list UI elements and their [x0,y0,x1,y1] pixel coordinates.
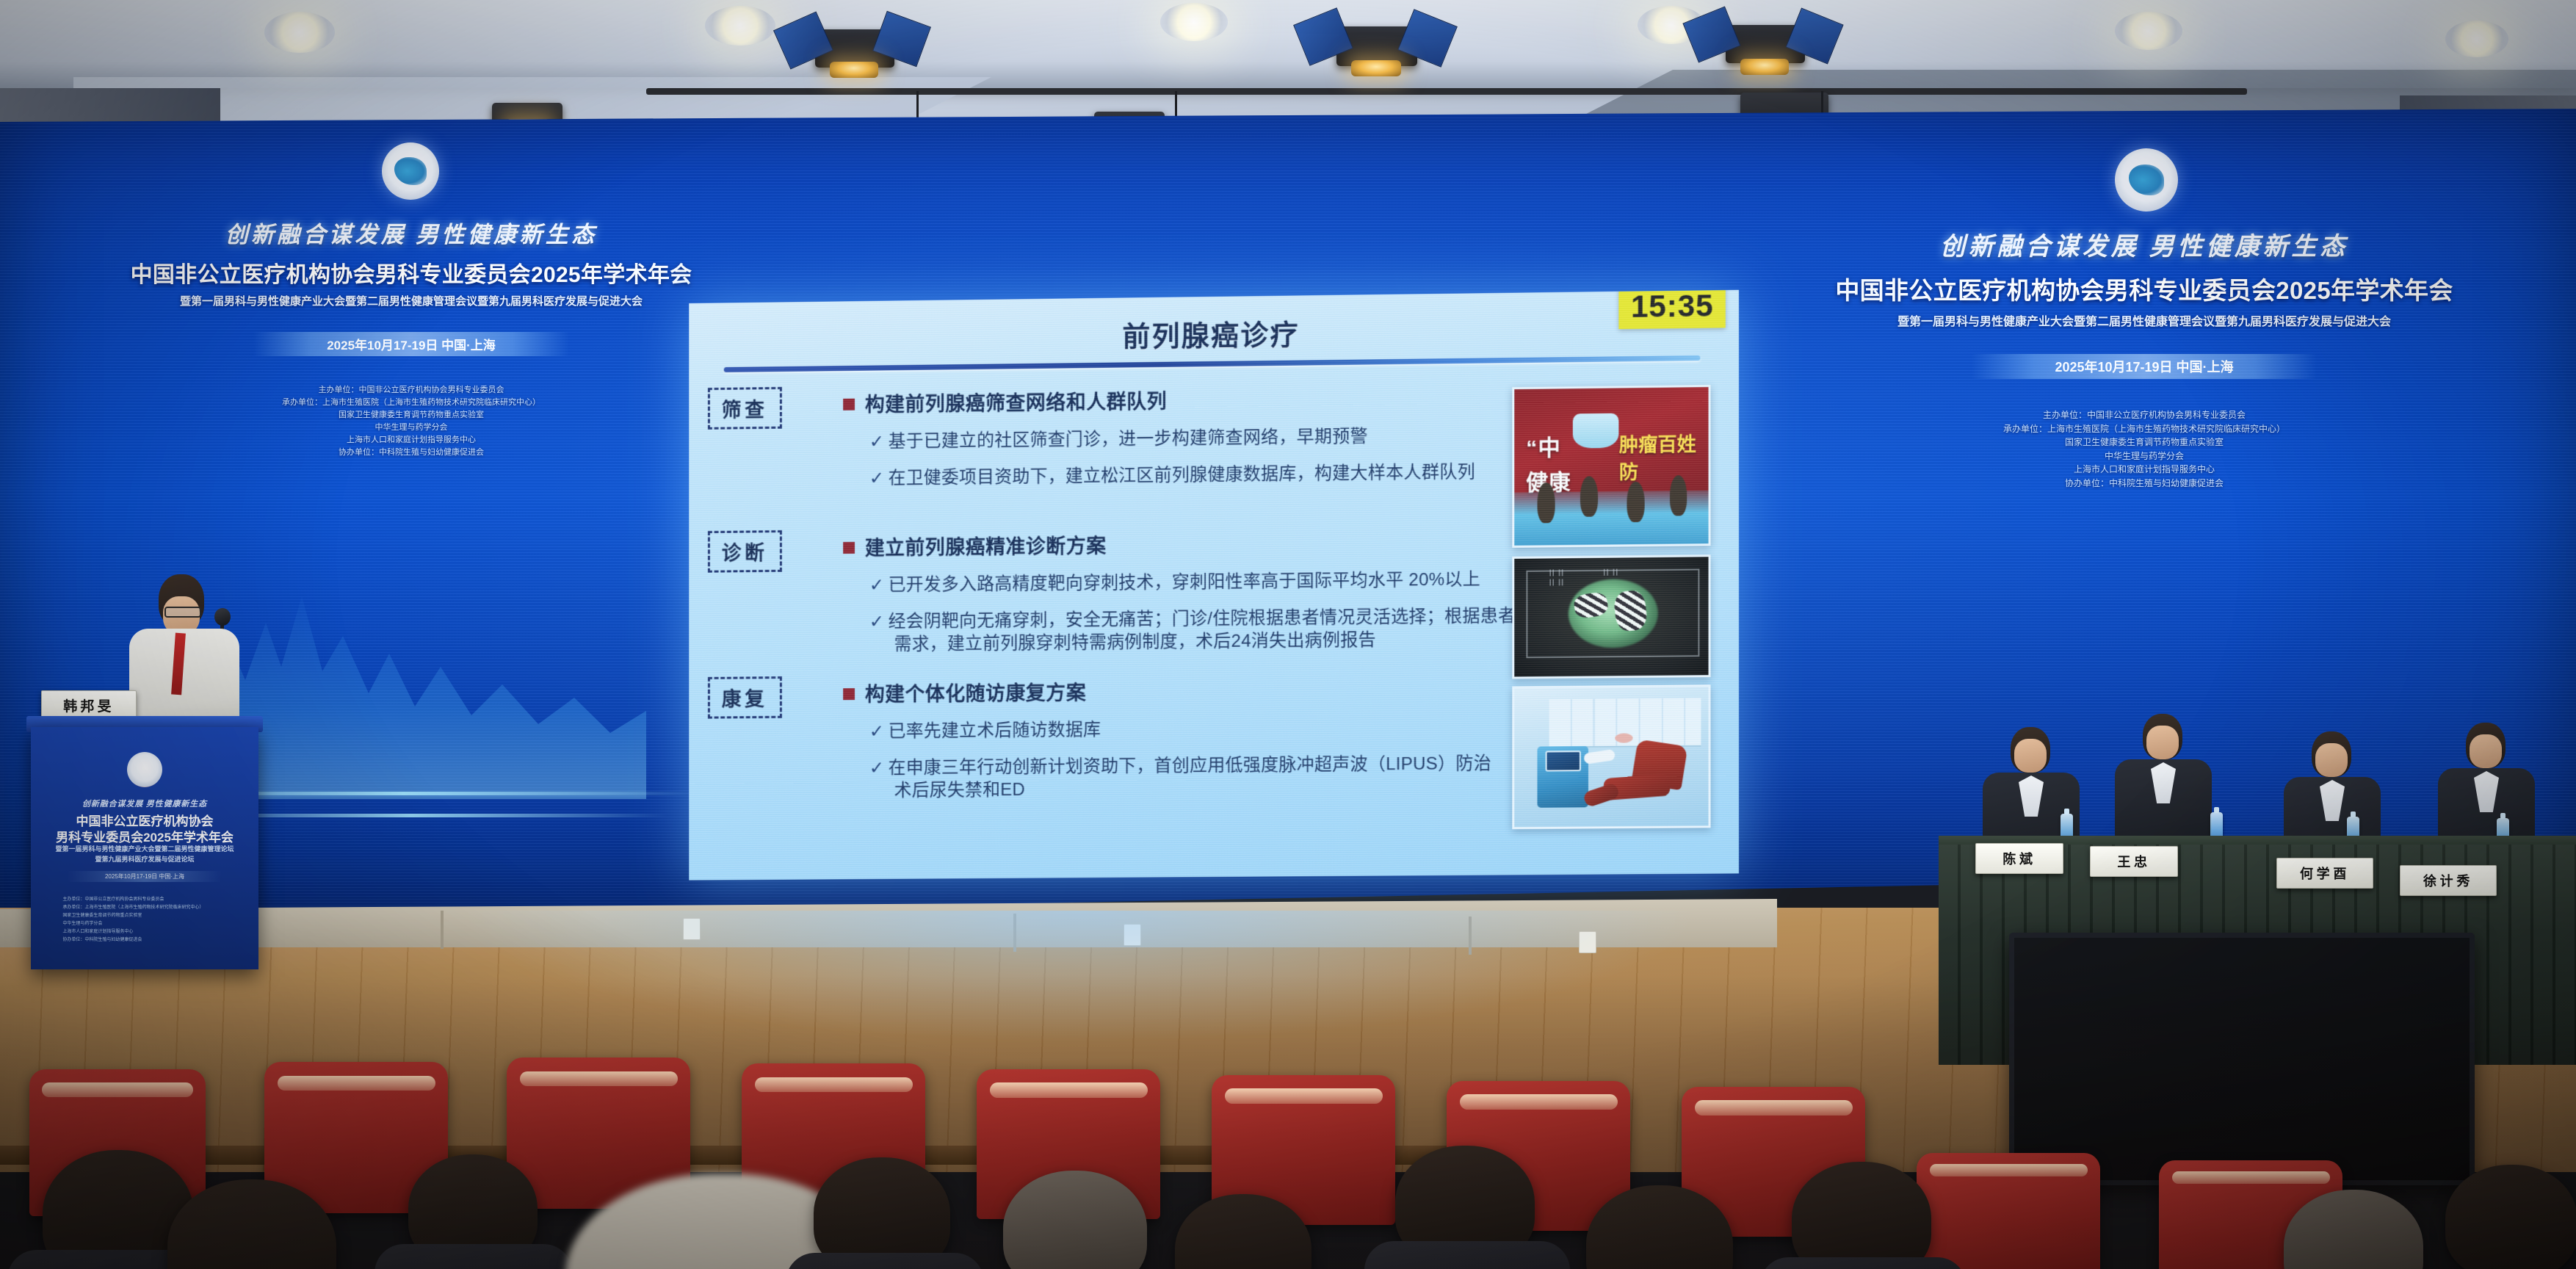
panelist-nameplate-2: 王忠 [2090,846,2178,877]
slide-section-screening: 筛查 构建前列腺癌筛查网络和人群队列 ✓基于已建立的社区筛查门诊，进一步构建筛查… [689,377,1420,386]
organizer-line: 协办单位：中科院生殖与妇幼健康促进会 [88,446,734,459]
panelist-face [2014,739,2047,773]
stage-light-lens-icon [1351,60,1401,76]
panelist-nameplate-4: 徐计秀 [2400,865,2497,896]
section-heading-rehab: 构建个体化随访康复方案 [843,676,1086,707]
bullet-text: 已开发多入路高精度靶向穿刺技术，穿刺阳性率高于国际平均水平 20%以上 [889,569,1480,595]
banner-title-main: 中国非公立医疗机构协会男科专业委员会2025年学术年会 [1784,271,2504,306]
bullet-item: ✓基于已建立的社区筛查门诊，进一步构建筛查网络，早期预警 [869,426,1368,454]
podium-slogan: 创新融合谋发展 男性健康新生态 [31,798,258,809]
organizer-line: 中华生理与药学分会 [88,422,734,434]
ultrasound-tick-label: || || [1604,568,1619,576]
organizer-line: 中华生理与药学分会 [1784,449,2504,463]
base-joint [441,911,444,949]
banner-title-sub: 暨第一届男科与男性健康产业大会暨第二届男性健康管理会议暨第九届男科医疗发展与促进… [1784,311,2504,329]
heading-text: 构建个体化随访康复方案 [865,681,1086,705]
panelist-face [2146,726,2179,759]
check-icon: ✓ [869,431,889,454]
organizer-line: 国家卫生健康委生育调节药物重点实验室 [88,409,734,422]
podium-title-line2: 男科专业委员会2025年学术年会 [31,827,258,845]
organizer-line: 主办单位：中国非公立医疗机构协会男科专业委员会 [88,384,734,397]
photo-treatment-room [1512,684,1710,829]
audience-shoulders [1364,1241,1570,1269]
podium-subtitle-line1: 暨第一届男科与男性健康产业大会暨第二届男性健康管理论坛 [31,845,258,855]
bullet-square-icon [843,399,855,411]
podium-organizer-line: 协办单位：中科院生殖与妇幼健康促进会 [62,936,226,944]
check-icon: ✓ [869,611,889,634]
banner-left: 创新融合谋发展 男性健康新生态 中国非公立医疗机构协会男科专业委员会2025年学… [88,138,734,459]
panelist-nameplate-1: 陈斌 [1975,843,2063,874]
bullet-item: ✓已开发多入路高精度靶向穿刺技术，穿刺阳性率高于国际平均水平 20%以上 [869,568,1480,597]
section-heading-diagnosis: 建立前列腺癌精准诊断方案 [843,529,1107,561]
presentation-slide: 前列腺癌诊疗 15:35 筛查 构建前列腺癌筛查网络和人群队列 ✓基于已建立的社… [689,290,1739,881]
bullet-item: ✓在卫健委项目资助下，建立松江区前列腺健康数据库，构建大样本人群队列 [869,461,1475,491]
banner-title-main: 中国非公立医疗机构协会男科专业委员会2025年学术年会 [88,256,734,289]
slide-title: 前列腺癌诊疗 [689,306,1739,360]
device-screen [1545,751,1581,772]
photo-person-head [1670,475,1687,516]
photo-logo-pill [1572,413,1618,449]
heading-text: 建立前列腺癌精准诊断方案 [865,535,1107,559]
podium-date: 2025年10月17-19日 中国·上海 [68,871,222,882]
countdown-timer: 15:35 [1619,290,1726,329]
downlight-icon [1160,3,1228,41]
audience-head [2445,1165,2576,1269]
speaker-nameplate: 韩邦旻 [41,690,137,720]
photo-ultrasound-fusion: || || || || || || [1512,554,1710,679]
organizer-line: 协办单位：中科院生殖与妇幼健康促进会 [1784,477,2504,491]
photo-community-screening: “中 健康 肿瘤百姓防 [1512,385,1710,548]
downlight-icon [705,6,775,46]
ultrasound-tick-label: || || [1549,569,1565,576]
title-divider [724,355,1701,372]
bullet-square-icon [843,688,855,700]
photo-banner-accent: 肿瘤百姓防 [1619,430,1709,485]
stage-light-lens-icon [830,62,878,78]
bullet-text-cont: 需求，建立前列腺穿刺特需病例制度，术后24消失出病例报告 [869,628,1516,657]
section-tag-screening: 筛查 [708,387,782,430]
podium-subtitle-line2: 暨第九届男科医疗发展与促进论坛 [31,855,258,865]
check-icon: ✓ [869,757,889,780]
auditorium-seat [1917,1153,2100,1269]
organizer-line: 上海市人口和家庭计划指导服务中心 [88,434,734,446]
organizer-line: 承办单位：上海市生殖医院（上海市生殖药物技术研究院临床研究中心） [88,397,734,409]
audience-shoulders [1759,1257,1967,1269]
downlight-icon [2115,12,2182,50]
bullet-text: 经会阴靶向无痛穿刺，安全无痛苦；门诊/住院根据患者情况灵活选择；根据患者 [889,606,1516,632]
podium-organizer-line: 主办单位：中国非公立医疗机构协会男科专业委员会 [62,896,226,904]
stage-light-lens-icon [1740,59,1789,75]
podium-organizer-line: 国家卫生健康委生育调节药物重点实验室 [62,912,226,920]
banner-slogan: 创新融合谋发展 男性健康新生态 [88,216,734,249]
section-tag-diagnosis: 诊断 [708,530,782,573]
podium: 创新融合谋发展 男性健康新生态 中国非公立医疗机构协会 男科专业委员会2025年… [31,727,258,969]
bullet-text: 在卫健委项目资助下，建立松江区前列腺健康数据库，构建大样本人群队列 [889,462,1475,488]
podium-organizer-line: 承办单位：上海市生殖医院（上海市生殖药物技术研究院临床研究中心） [62,904,226,912]
bullet-text: 基于已建立的社区筛查门诊，进一步构建筛查网络，早期预警 [889,427,1368,452]
bullet-text: 已率先建立术后随访数据库 [889,720,1101,741]
bullet-item: ✓在申康三年行动创新计划资助下，首创应用低强度脉冲超声波（LIPUS）防治 术后… [869,753,1491,803]
podium-organizer-line: 上海市人口和家庭计划指导服务中心 [62,928,226,936]
check-icon: ✓ [869,468,889,491]
photo-person-head [1580,476,1598,517]
banner-organizers: 主办单位：中国非公立医疗机构协会男科专业委员会 承办单位：上海市生殖医院（上海市… [88,384,734,459]
section-heading-screening: 构建前列腺癌筛查网络和人群队列 [843,386,1167,418]
banner-title-sub: 暨第一届男科与男性健康产业大会暨第二届男性健康管理会议暨第九届男科医疗发展与促进… [88,293,734,308]
glasses-icon [164,607,201,618]
device-arm [1583,749,1616,764]
podium-organizer-line: 中华生理与药学分会 [62,920,226,928]
organizer-line: 国家卫生健康委生育调节药物重点实验室 [1784,435,2504,449]
organizer-line: 上海市人口和家庭计划指导服务中心 [1784,463,2504,477]
treatment-chair-legrest [1582,782,1621,808]
lighting-truss [646,88,2247,95]
podium-subtitle: 暨第一届男科与男性健康产业大会暨第二届男性健康管理论坛 暨第九届男科医疗发展与促… [31,845,258,864]
slide-section-rehab: 康复 构建个体化随访康复方案 ✓已率先建立术后随访数据库 ✓在申康三年行动创新计… [689,377,1420,386]
organizer-line: 主办单位：中国非公立医疗机构协会男科专业委员会 [1784,408,2504,422]
photo-banner-text: “中 [1526,430,1561,463]
bullet-text: 在申康三年行动创新计划资助下，首创应用低强度脉冲超声波（LIPUS）防治 [889,753,1491,778]
banner-slogan: 创新融合谋发展 男性健康新生态 [1784,226,2504,262]
section-tag-rehab: 康复 [708,676,782,719]
audience-head [1792,1162,1931,1269]
association-emblem-icon [2115,148,2178,211]
bullet-item: ✓经会阴靶向无痛穿刺，安全无痛苦；门诊/住院根据患者情况灵活选择；根据患者 需求… [869,605,1516,656]
downlight-icon [264,12,335,53]
check-icon: ✓ [869,574,889,597]
podium-emblem-icon [127,752,162,787]
podium-organizers: 主办单位：中国非公立医疗机构协会男科专业委员会 承办单位：上海市生殖医院（上海市… [62,896,226,945]
auditorium-scene: 创新融合谋发展 男性健康新生态 中国非公立医疗机构协会男科专业委员会2025年学… [0,0,2576,1269]
microphone-icon [214,608,231,626]
panelist-face [2470,734,2502,768]
bullet-text-cont: 术后尿失禁和ED [869,775,1491,803]
photo-person-head [1627,482,1644,523]
bullet-square-icon [843,542,855,554]
downlight-icon [2445,21,2508,57]
check-icon: ✓ [869,721,889,744]
audience-shoulders [786,1253,984,1269]
banner-date: 2025年10月17-19日 中国·上海 [253,332,569,356]
audience-shoulders [375,1244,573,1269]
panelist-nameplate-3: 何学酉 [2276,858,2373,889]
photo-person-head [1538,482,1555,524]
association-emblem-icon [382,142,439,200]
organizer-line: 承办单位：上海市生殖医院（上海市生殖药物技术研究院临床研究中心） [1784,422,2504,436]
ultrasound-tick-label: || || [1549,579,1565,586]
bullet-item: ✓已率先建立术后随访数据库 [869,719,1101,743]
audience-area [0,977,2576,1269]
banner-date: 2025年10月17-19日 中国·上海 [1972,354,2317,379]
heading-text: 构建前列腺癌筛查网络和人群队列 [865,391,1167,416]
panelist-face [2315,743,2348,777]
slide-section-diagnosis: 诊断 建立前列腺癌精准诊断方案 ✓已开发多入路高精度靶向穿刺技术，穿刺阳性率高于… [689,377,1420,386]
banner-right: 创新融合谋发展 男性健康新生态 中国非公立医疗机构协会男科专业委员会2025年学… [1784,123,2504,491]
banner-organizers: 主办单位：中国非公立医疗机构协会男科专业委员会 承办单位：上海市生殖医院（上海市… [1784,408,2504,491]
slide-body: 筛查 构建前列腺癌筛查网络和人群队列 ✓基于已建立的社区筛查门诊，进一步构建筛查… [689,377,1420,878]
